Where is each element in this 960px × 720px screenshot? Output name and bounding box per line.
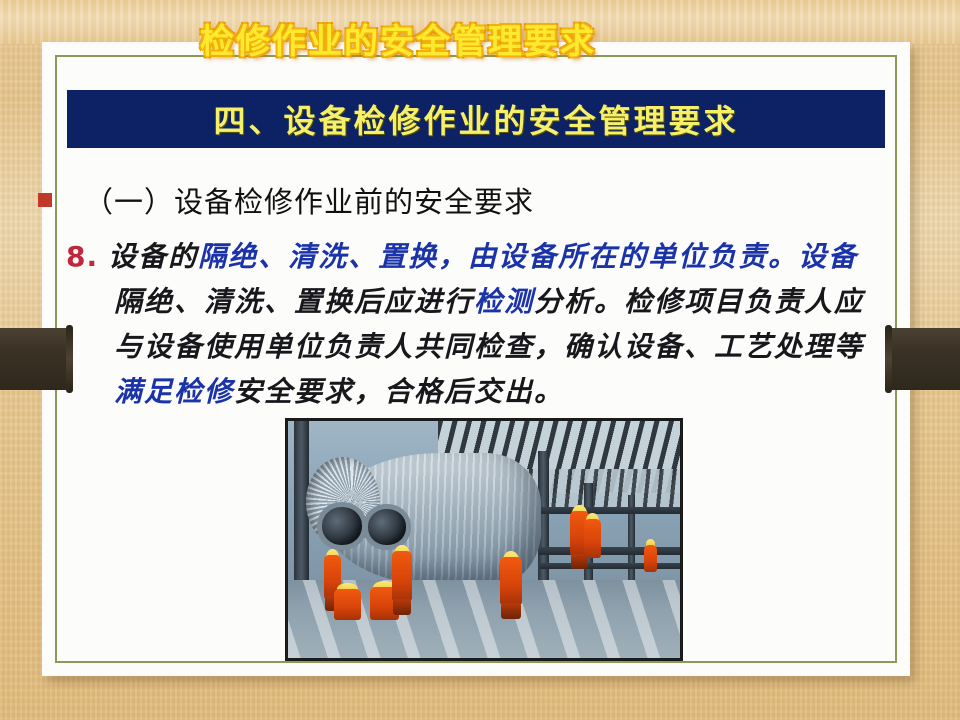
legs	[501, 603, 520, 619]
section-banner-title: 四、设备检修作业的安全管理要求	[213, 96, 738, 142]
ribbon-cap-right	[885, 325, 892, 393]
body-run-4-2: 安全要求，合格后交出。	[234, 375, 564, 408]
coverall	[500, 557, 522, 605]
legs	[393, 599, 411, 616]
worker-2	[334, 583, 361, 623]
coverall	[392, 551, 412, 601]
body-line-4: 满足检修安全要求，合格后交出。	[66, 369, 896, 414]
ribbon-bar-right	[885, 328, 960, 390]
ribbon-cap-left	[66, 325, 73, 393]
section-banner: 四、设备检修作业的安全管理要求	[67, 90, 885, 148]
body-run-1-2: 隔绝、清洗、置换，	[198, 240, 468, 273]
ribbon-bar-left	[0, 328, 73, 390]
worker-4	[392, 545, 412, 609]
worker-8	[644, 539, 657, 573]
body-line-2: 隔绝、清洗、置换后应进行检测分析。检修项目负责人应	[66, 279, 896, 324]
body-run-2-3: 分析。检修项目负责人应	[534, 285, 864, 318]
beam-2	[540, 563, 680, 569]
body-run-2-2: 检测	[474, 285, 534, 318]
body-line-1: 8.设备的隔绝、清洗、置换，由设备所在的单位负责。设备	[66, 234, 896, 279]
photo-frame	[285, 418, 683, 661]
red-square-bullet-icon	[38, 193, 52, 207]
body-run-1-1: 设备的	[108, 240, 198, 273]
overlay-title: 检修作业的安全管理要求	[200, 14, 596, 63]
worker-7	[584, 513, 601, 563]
coverall	[644, 545, 657, 572]
subtitle-row: （一）设备检修作业前的安全要求	[38, 178, 738, 222]
beam-1	[538, 547, 680, 555]
body-item-number: 8.	[66, 240, 98, 273]
body-line-3: 与设备使用单位负责人共同检查，确认设备、工艺处理等	[66, 324, 896, 369]
vessel-nozzle-1	[322, 507, 362, 545]
body-run-1-3: 由设备所在的单位负责。设备	[468, 240, 858, 273]
vessel-nozzle-2	[368, 509, 406, 545]
coverall	[584, 519, 601, 558]
body-run-4-1: 满足检修	[114, 375, 234, 408]
body-run-3-1: 与设备使用单位负责人共同检查，确认设备、工艺处理等	[114, 330, 864, 363]
coverall	[334, 589, 361, 620]
worker-5	[500, 551, 522, 613]
body-run-2-1: 隔绝、清洗、置换后应进行	[114, 285, 474, 318]
body-paragraph: 8.设备的隔绝、清洗、置换，由设备所在的单位负责。设备隔绝、清洗、置换后应进行检…	[66, 234, 896, 414]
photo-industrial-maintenance	[288, 421, 680, 658]
subtitle-text: （一）设备检修作业前的安全要求	[84, 179, 534, 221]
